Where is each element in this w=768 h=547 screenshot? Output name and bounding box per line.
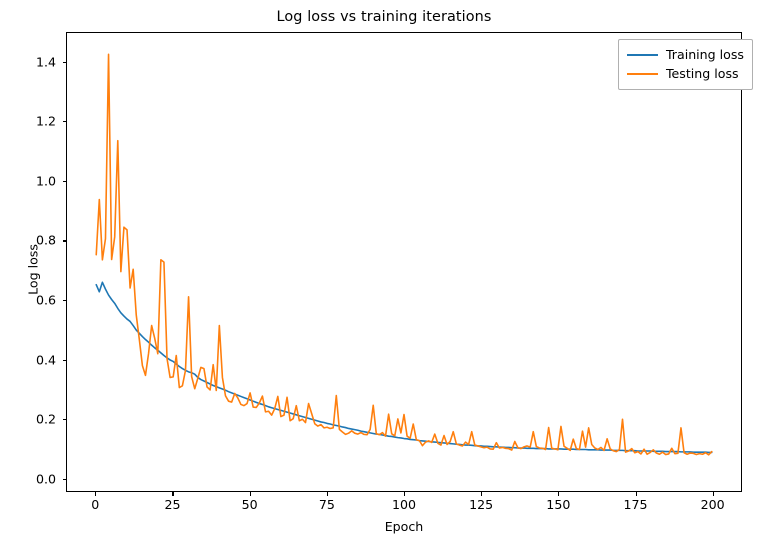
chart-legend: Training loss Testing loss	[618, 39, 753, 90]
x-tick-mark	[558, 492, 559, 496]
y-tick-label: 0.0	[8, 471, 56, 486]
x-tick-label: 175	[623, 497, 647, 512]
y-tick-label: 1.0	[8, 173, 56, 188]
legend-item-testing[interactable]: Testing loss	[627, 64, 744, 83]
x-tick-label: 75	[319, 497, 335, 512]
x-tick-label: 0	[91, 497, 99, 512]
y-tick-label: 0.4	[8, 352, 56, 367]
x-tick-mark	[95, 492, 96, 496]
x-tick-label: 125	[469, 497, 493, 512]
y-tick-mark	[63, 300, 67, 301]
x-tick-mark	[404, 492, 405, 496]
x-tick-label: 150	[546, 497, 570, 512]
figure-canvas: Log loss vs training iterations 0.00.20.…	[0, 0, 768, 547]
y-tick-mark	[63, 360, 67, 361]
plot-area	[66, 32, 742, 492]
y-tick-mark	[63, 419, 67, 420]
y-tick-mark	[63, 121, 67, 122]
chart-title: Log loss vs training iterations	[0, 9, 768, 25]
plot-lines-svg	[67, 33, 741, 491]
x-tick-label: 25	[164, 497, 180, 512]
y-tick-mark	[63, 479, 67, 480]
y-axis-label: Log loss	[26, 220, 41, 320]
x-tick-mark	[713, 492, 714, 496]
y-tick-label: 1.2	[8, 114, 56, 129]
y-tick-mark	[63, 240, 67, 241]
y-tick-label: 0.2	[8, 412, 56, 427]
x-tick-label: 100	[392, 497, 416, 512]
legend-label-testing: Testing loss	[666, 66, 739, 81]
x-tick-mark	[481, 492, 482, 496]
legend-label-training: Training loss	[666, 47, 744, 62]
x-tick-mark	[250, 492, 251, 496]
x-tick-mark	[327, 492, 328, 496]
y-tick-mark	[63, 62, 67, 63]
x-tick-mark	[172, 492, 173, 496]
legend-swatch-training	[627, 54, 658, 56]
line-testing-loss	[96, 54, 712, 454]
x-tick-mark	[636, 492, 637, 496]
y-tick-label: 1.4	[8, 54, 56, 69]
legend-swatch-testing	[627, 73, 658, 75]
y-tick-mark	[63, 181, 67, 182]
x-tick-label: 50	[242, 497, 258, 512]
x-tick-label: 200	[701, 497, 725, 512]
x-axis-label: Epoch	[66, 519, 742, 534]
legend-item-training[interactable]: Training loss	[627, 45, 744, 64]
